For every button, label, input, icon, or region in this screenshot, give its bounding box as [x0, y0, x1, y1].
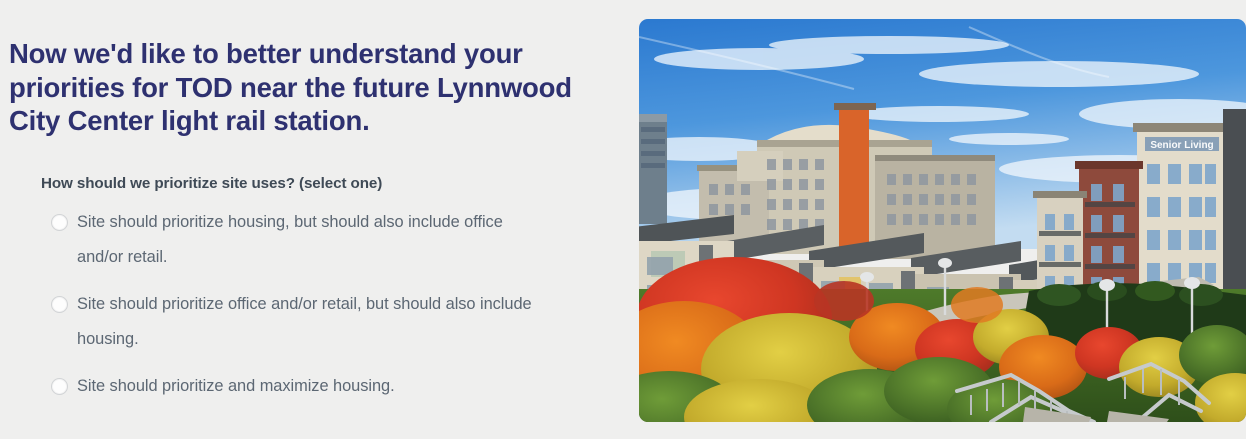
photo-illustration: Senior Living — [639, 19, 1246, 422]
senior-living-sign-text: Senior Living — [1150, 140, 1213, 151]
survey-panel: Now we'd like to better understand your … — [0, 0, 639, 439]
radio-button-icon[interactable] — [51, 296, 68, 313]
tod-neighborhood-photo: Senior Living — [639, 19, 1246, 422]
radio-option-label: Site should prioritize housing, but shou… — [77, 213, 503, 266]
right-page-gutter — [1246, 0, 1258, 439]
radio-option-label: Site should prioritize office and/or ret… — [77, 295, 532, 348]
question-block: How should we prioritize site uses? (sel… — [41, 174, 601, 416]
radio-option-prioritize-office-retail-include-housing[interactable]: Site should prioritize office and/or ret… — [41, 287, 536, 357]
radio-option-prioritize-maximize-housing[interactable]: Site should prioritize and maximize hous… — [41, 369, 511, 404]
question-label: How should we prioritize site uses? (sel… — [41, 174, 601, 194]
page-title: Now we'd like to better understand your … — [9, 37, 619, 138]
background-glass-tower — [639, 114, 667, 224]
radio-option-prioritize-housing-include-office-retail[interactable]: Site should prioritize housing, but shou… — [41, 205, 511, 275]
radio-button-icon[interactable] — [51, 378, 68, 395]
radio-button-icon[interactable] — [51, 214, 68, 231]
radio-option-label: Site should prioritize and maximize hous… — [77, 377, 395, 395]
orange-accent-tower — [839, 107, 869, 257]
